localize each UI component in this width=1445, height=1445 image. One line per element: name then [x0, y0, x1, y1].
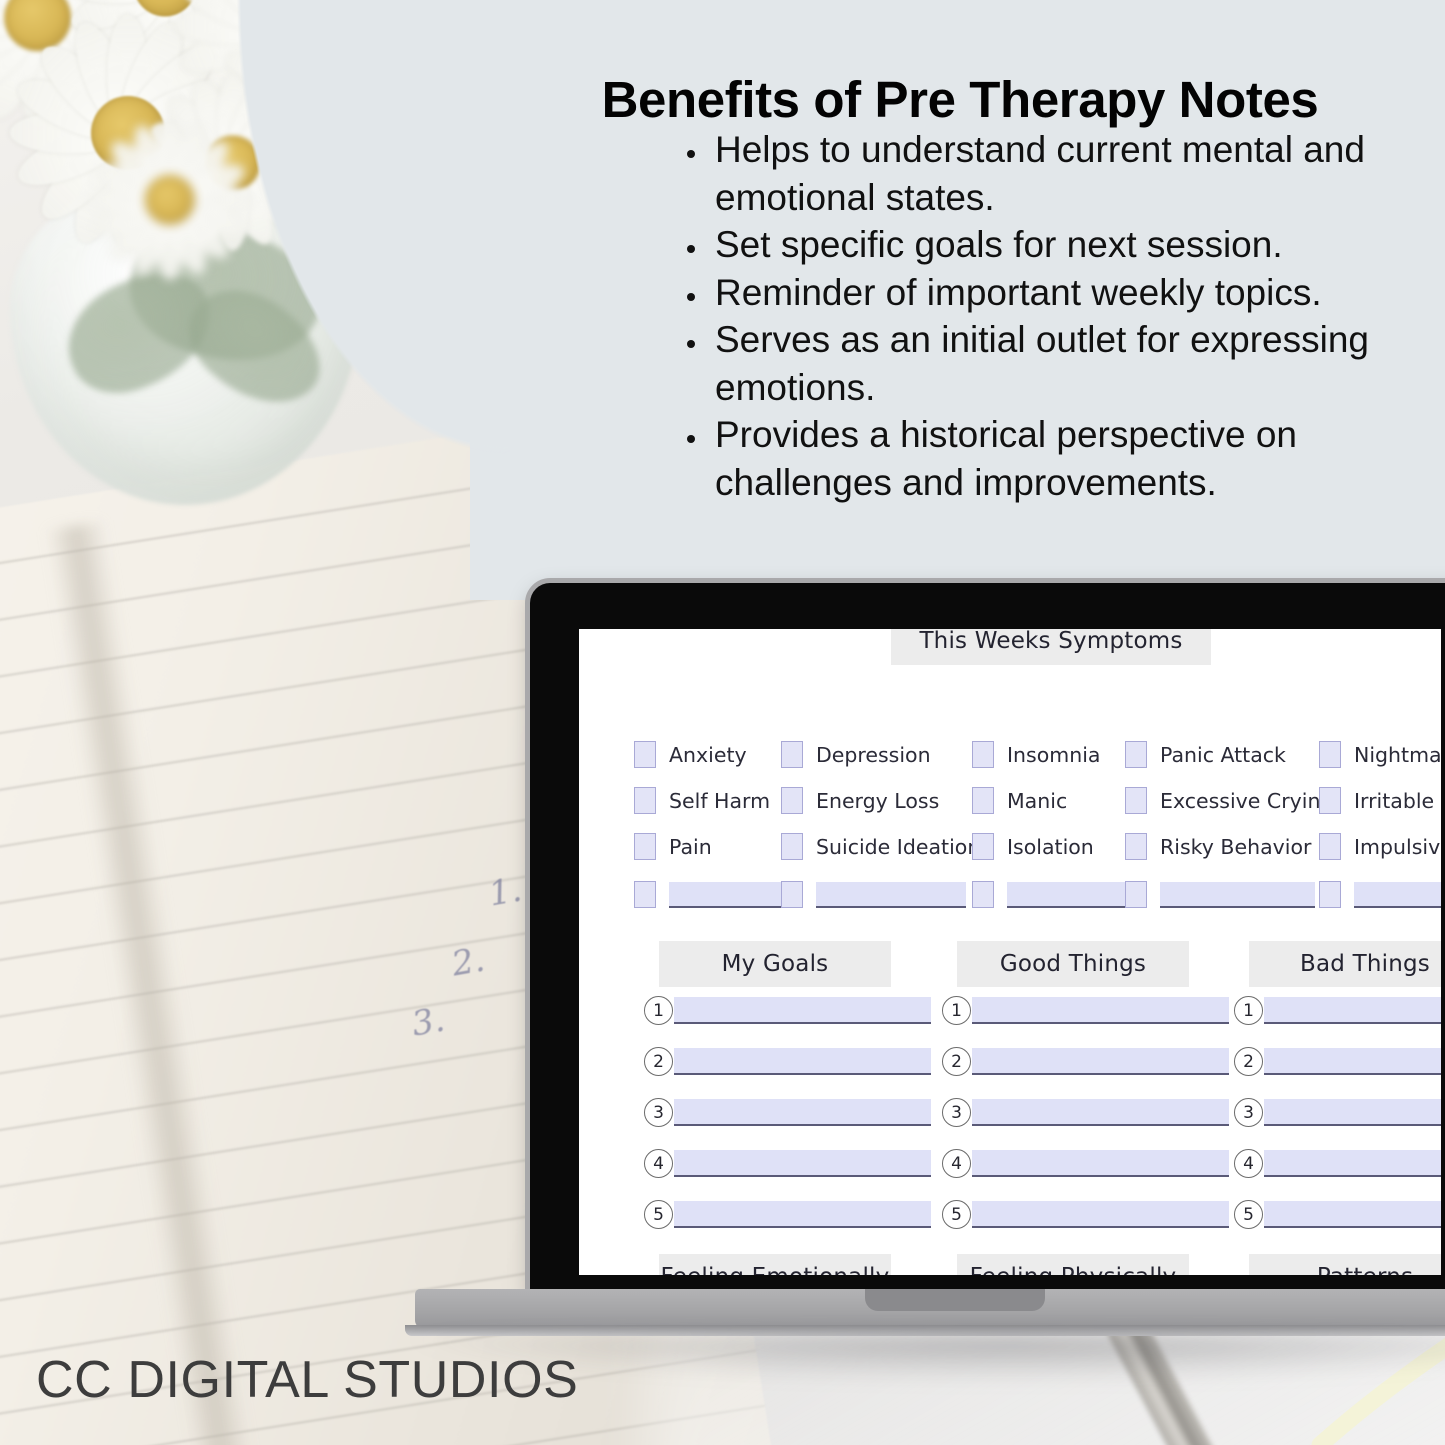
symptom-checkbox-row[interactable]: Pain — [634, 833, 712, 860]
entry-input-line[interactable] — [674, 997, 931, 1024]
entry-input-line[interactable] — [972, 997, 1229, 1024]
checkbox-icon[interactable] — [1125, 881, 1147, 908]
symptom-label: Risky Behavior — [1160, 835, 1311, 859]
numbered-entry-row[interactable]: 1 — [1234, 996, 1441, 1025]
symptom-checkbox-row[interactable]: Manic — [972, 787, 1067, 814]
page-title: Benefits of Pre Therapy Notes — [490, 70, 1430, 129]
benefit-item: Reminder of important weekly topics. — [710, 269, 1432, 317]
symptom-custom-entry-row[interactable] — [781, 881, 966, 908]
checkbox-icon[interactable] — [781, 833, 803, 860]
benefit-item: Set specific goals for next session. — [710, 221, 1432, 269]
symptom-label: Energy Loss — [816, 789, 939, 813]
symptom-label: Insomnia — [1007, 743, 1100, 767]
symptom-label: Anxiety — [669, 743, 747, 767]
symptom-label: Self Harm — [669, 789, 770, 813]
section-header: Good Things — [957, 941, 1189, 987]
checkbox-icon[interactable] — [634, 787, 656, 814]
symptom-custom-entry-row[interactable] — [1125, 881, 1315, 908]
entry-input-line[interactable] — [1264, 1201, 1441, 1228]
symptom-label: Nightmares — [1354, 743, 1441, 767]
section-header: Bad Things — [1249, 941, 1441, 987]
therapy-worksheet: This Weeks Symptoms AnxietySelf HarmPain… — [579, 629, 1441, 1275]
entry-number-badge: 4 — [942, 1149, 971, 1178]
entry-number-badge: 1 — [644, 996, 673, 1025]
symptom-checkbox-row[interactable]: Nightmares — [1319, 741, 1441, 768]
symptom-label: Suicide Ideation — [816, 835, 980, 859]
entry-input-line[interactable] — [972, 1201, 1229, 1228]
symptom-label: Depression — [816, 743, 931, 767]
laptop-screen: This Weeks Symptoms AnxietySelf HarmPain… — [579, 629, 1441, 1275]
symptom-custom-input[interactable] — [816, 882, 966, 908]
numbered-entry-row[interactable]: 4 — [644, 1149, 931, 1178]
symptom-custom-input[interactable] — [1007, 882, 1125, 908]
entry-number-badge: 1 — [1234, 996, 1263, 1025]
symptom-checkbox-row[interactable]: Energy Loss — [781, 787, 939, 814]
entry-input-line[interactable] — [1264, 997, 1441, 1024]
numbered-entry-row[interactable]: 1 — [942, 996, 1229, 1025]
handwritten-number-1: 1. — [486, 869, 525, 914]
entry-input-line[interactable] — [674, 1048, 931, 1075]
laptop-lid: This Weeks Symptoms AnxietySelf HarmPain… — [530, 583, 1445, 1295]
checkbox-icon[interactable] — [1319, 881, 1341, 908]
checkbox-icon[interactable] — [781, 741, 803, 768]
numbered-entry-row[interactable]: 2 — [1234, 1047, 1441, 1076]
numbered-entry-row[interactable]: 3 — [942, 1098, 1229, 1127]
checkbox-icon[interactable] — [1125, 833, 1147, 860]
entry-input-line[interactable] — [674, 1201, 931, 1228]
symptom-checkbox-row[interactable]: Impulsive — [1319, 833, 1441, 860]
poster-canvas: 1. 2. 3. Benefits of Pre Therapy Notes H… — [0, 0, 1445, 1445]
entry-input-line[interactable] — [674, 1150, 931, 1177]
symptom-custom-entry-row[interactable] — [972, 881, 1125, 908]
entry-number-badge: 2 — [644, 1047, 673, 1076]
symptom-label: Isolation — [1007, 835, 1094, 859]
checkbox-icon[interactable] — [634, 741, 656, 768]
checkbox-icon[interactable] — [1319, 833, 1341, 860]
handwritten-number-3: 3. — [409, 999, 448, 1044]
checkbox-icon[interactable] — [634, 881, 656, 908]
entry-number-badge: 2 — [1234, 1047, 1263, 1076]
symptom-checkbox-row[interactable]: Irritable — [1319, 787, 1434, 814]
checkbox-icon[interactable] — [972, 787, 994, 814]
symptom-custom-entry-row[interactable] — [634, 881, 787, 908]
symptom-custom-input[interactable] — [669, 882, 787, 908]
numbered-entry-row[interactable]: 2 — [644, 1047, 931, 1076]
numbered-entry-row[interactable]: 1 — [644, 996, 931, 1025]
symptom-checkbox-row[interactable]: Insomnia — [972, 741, 1100, 768]
symptom-checkbox-row[interactable]: Depression — [781, 741, 931, 768]
checkbox-icon[interactable] — [634, 833, 656, 860]
checkbox-icon[interactable] — [1125, 787, 1147, 814]
symptom-label: Irritable — [1354, 789, 1434, 813]
numbered-entry-row[interactable]: 5 — [644, 1200, 931, 1229]
symptom-label: Excessive Crying — [1160, 789, 1334, 813]
numbered-entry-row[interactable]: 5 — [942, 1200, 1229, 1229]
symptom-checkbox-row[interactable]: Anxiety — [634, 741, 747, 768]
section-header: My Goals — [659, 941, 891, 987]
symptom-checkbox-row[interactable]: Suicide Ideation — [781, 833, 980, 860]
laptop-base-notch — [865, 1289, 1045, 1311]
entry-number-badge: 3 — [942, 1098, 971, 1127]
entry-number-badge: 5 — [942, 1200, 971, 1229]
entry-input-line[interactable] — [972, 1150, 1229, 1177]
numbered-entry-row[interactable]: 4 — [942, 1149, 1229, 1178]
section-header: Feeling Emotionally — [659, 1254, 891, 1275]
symptom-custom-input[interactable] — [1160, 882, 1315, 908]
brand-watermark: CC DIGITAL STUDIOS — [36, 1350, 578, 1410]
symptom-label: Impulsive — [1354, 835, 1441, 859]
benefit-item: Provides a historical perspective on cha… — [710, 411, 1432, 506]
symptom-label: Pain — [669, 835, 712, 859]
entry-number-badge: 5 — [644, 1200, 673, 1229]
checkbox-icon[interactable] — [972, 741, 994, 768]
symptom-checkbox-row[interactable]: Excessive Crying — [1125, 787, 1334, 814]
checkbox-icon[interactable] — [1319, 787, 1341, 814]
checkbox-icon[interactable] — [972, 881, 994, 908]
symptom-custom-input[interactable] — [1354, 882, 1441, 908]
symptom-custom-entry-row[interactable] — [1319, 881, 1441, 908]
checkbox-icon[interactable] — [972, 833, 994, 860]
benefit-item: Serves as an initial outlet for expressi… — [710, 316, 1432, 411]
entry-number-badge: 4 — [644, 1149, 673, 1178]
numbered-entry-row[interactable]: 4 — [1234, 1149, 1441, 1178]
entry-input-line[interactable] — [1264, 1150, 1441, 1177]
checkbox-icon[interactable] — [1319, 741, 1341, 768]
benefit-item: Helps to understand current mental and e… — [710, 126, 1432, 221]
symptom-checkbox-row[interactable]: Isolation — [972, 833, 1094, 860]
symptom-label: Panic Attack — [1160, 743, 1286, 767]
entry-number-badge: 3 — [644, 1098, 673, 1127]
section-header: Feeling Physically — [957, 1254, 1189, 1275]
symptom-checkbox-row[interactable]: Self Harm — [634, 787, 770, 814]
entry-number-badge: 3 — [1234, 1098, 1263, 1127]
entry-input-line[interactable] — [674, 1099, 931, 1126]
symptom-label: Manic — [1007, 789, 1067, 813]
checkbox-icon[interactable] — [1125, 741, 1147, 768]
laptop-base — [415, 1289, 1445, 1329]
benefits-list: Helps to understand current mental and e… — [672, 126, 1432, 506]
laptop-mockup: This Weeks Symptoms AnxietySelf HarmPain… — [530, 583, 1445, 1295]
symptoms-section-header: This Weeks Symptoms — [891, 629, 1211, 665]
entry-input-line[interactable] — [972, 1048, 1229, 1075]
handwritten-number-2: 2. — [449, 939, 488, 984]
entry-number-badge: 2 — [942, 1047, 971, 1076]
symptom-checkbox-row[interactable]: Risky Behavior — [1125, 833, 1311, 860]
checkbox-icon[interactable] — [781, 881, 803, 908]
symptom-checkbox-row[interactable]: Panic Attack — [1125, 741, 1286, 768]
numbered-entry-row[interactable]: 3 — [1234, 1098, 1441, 1127]
numbered-entry-row[interactable]: 3 — [644, 1098, 931, 1127]
numbered-entry-row[interactable]: 5 — [1234, 1200, 1441, 1229]
numbered-entry-row[interactable]: 2 — [942, 1047, 1229, 1076]
entry-number-badge: 4 — [1234, 1149, 1263, 1178]
entry-input-line[interactable] — [1264, 1048, 1441, 1075]
entry-input-line[interactable] — [1264, 1099, 1441, 1126]
entry-input-line[interactable] — [972, 1099, 1229, 1126]
section-header: Patterns — [1249, 1254, 1441, 1275]
entry-number-badge: 5 — [1234, 1200, 1263, 1229]
entry-number-badge: 1 — [942, 996, 971, 1025]
checkbox-icon[interactable] — [781, 787, 803, 814]
